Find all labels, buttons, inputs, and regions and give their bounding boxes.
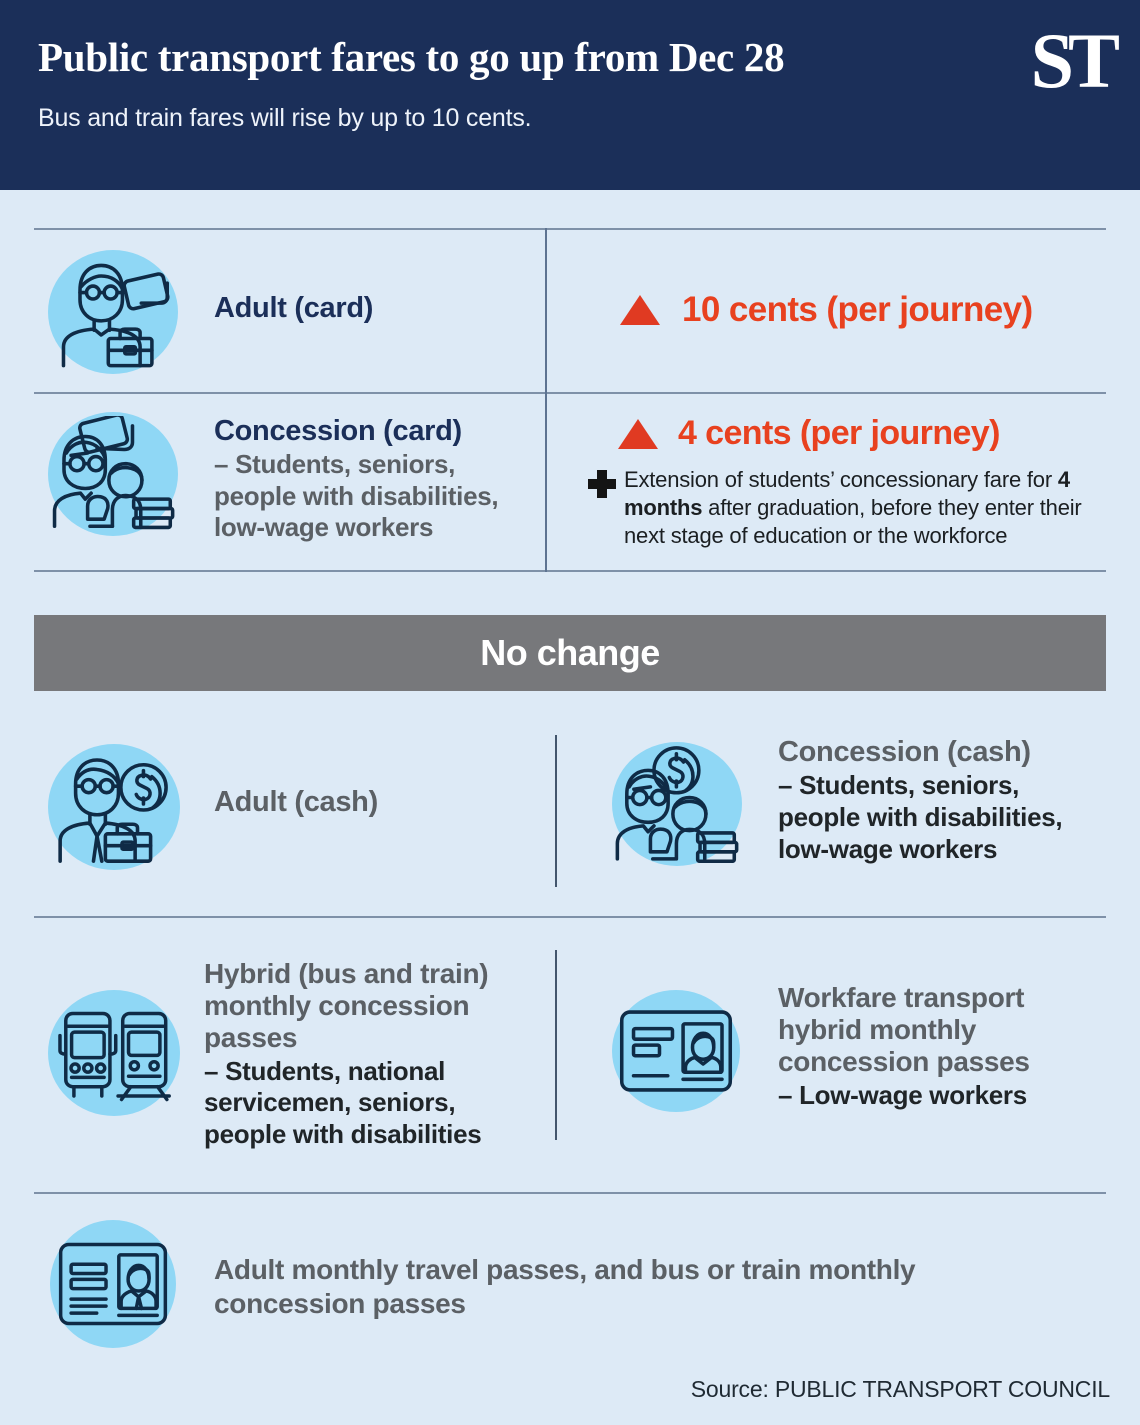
divider-cash-row <box>34 916 1106 918</box>
divider-vertical <box>545 228 547 572</box>
row-label-travel-passes: Adult monthly travel passes, and bus or … <box>214 1253 1014 1320</box>
row-label-adult-card: Adult (card) <box>214 292 373 325</box>
adult-cash-icon-glyph <box>53 750 175 864</box>
infographic-page: Public transport fares to go up from Dec… <box>0 0 1140 1425</box>
increase-value-concession-card: 4 cents (per journey) <box>618 414 1000 453</box>
concession-card-icon-glyph <box>51 416 175 532</box>
divider-vertical-cash <box>555 735 557 887</box>
increase-value-adult-card: 10 cents (per journey) <box>620 290 1033 330</box>
no-change-banner: No change <box>34 615 1106 691</box>
page-subtitle: Bus and train fares will rise by up to 1… <box>38 104 1106 133</box>
concession-cash-icon-glyph <box>615 745 739 863</box>
row-label-concession-cash: Concession (cash) <box>778 736 1098 768</box>
row-sublabel-concession-card: – Students, seniors, people with disabil… <box>214 449 534 543</box>
source-credit: Source: PUBLIC TRANSPORT COUNCIL <box>691 1376 1110 1403</box>
divider-passes-row <box>34 1192 1106 1194</box>
bus-train-icon-glyph <box>53 1000 175 1106</box>
row-sublabel-hybrid-passes: – Students, national servicemen, seniors… <box>204 1056 534 1151</box>
row-label-concession-card: Concession (card) <box>214 415 534 447</box>
row-label-adult-cash: Adult (cash) <box>214 786 378 819</box>
divider-bottom <box>34 570 1106 572</box>
concession-cash-icon <box>612 742 742 866</box>
adult-card-icon-glyph <box>54 256 172 368</box>
divider-vertical-passes <box>555 950 557 1140</box>
divider-mid <box>34 392 1106 394</box>
row-label-workfare-passes: Workfare transport hybrid monthly conces… <box>778 982 1098 1079</box>
row-text-concession-cash: Concession (cash) – Students, seniors, p… <box>778 736 1098 866</box>
bus-train-icon <box>48 990 180 1116</box>
no-change-label: No change <box>480 632 660 674</box>
id-card-icon <box>612 990 740 1112</box>
divider-top <box>34 228 1106 230</box>
id-card-icon-glyph <box>617 1005 735 1097</box>
straits-times-logo: ST <box>1031 22 1114 100</box>
adult-card-icon <box>48 250 178 374</box>
note-prefix: Extension of students’ concessionary far… <box>624 467 1052 492</box>
row-sublabel-concession-cash: – Students, seniors, people with disabil… <box>778 770 1098 865</box>
row-sublabel-workfare-passes: – Low-wage workers <box>778 1080 1098 1112</box>
concession-extension-note: Extension of students’ concessionary far… <box>624 466 1084 550</box>
increase-arrow-icon <box>620 295 660 325</box>
header-banner: Public transport fares to go up from Dec… <box>0 0 1140 190</box>
row-text-concession-card: Concession (card) – Students, seniors, p… <box>214 415 534 543</box>
row-text-workfare-passes: Workfare transport hybrid monthly conces… <box>778 982 1098 1111</box>
row-text-hybrid-passes: Hybrid (bus and train) monthly concessio… <box>204 958 534 1151</box>
page-title: Public transport fares to go up from Dec… <box>38 36 1106 79</box>
travel-pass-card-icon-glyph <box>56 1238 170 1330</box>
plus-icon <box>588 470 616 498</box>
travel-pass-card-icon <box>50 1220 176 1348</box>
row-label-hybrid-passes: Hybrid (bus and train) monthly concessio… <box>204 958 534 1055</box>
increase-arrow-icon <box>618 419 658 449</box>
adult-cash-icon <box>48 744 180 870</box>
concession-card-icon <box>48 412 178 536</box>
